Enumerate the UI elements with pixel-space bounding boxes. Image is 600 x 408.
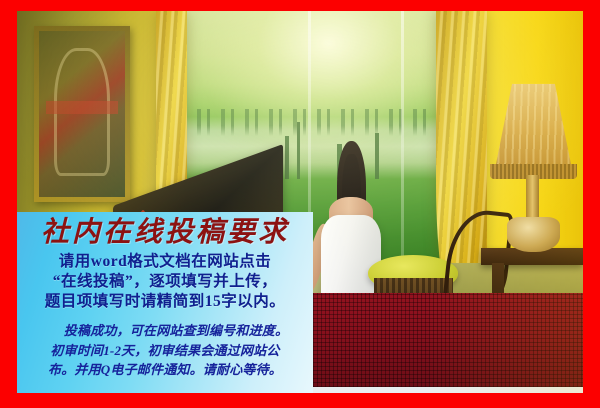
city-skyline xyxy=(170,109,459,136)
notice-body: 请用word格式文档在网站点击 “在线投稿”，逐项填写并上传， 题目项填写时请精… xyxy=(25,252,305,312)
lamp-base xyxy=(507,217,561,251)
window-mullion xyxy=(401,11,404,282)
notice-title: 社内在线投稿要求 xyxy=(25,216,305,250)
notice-sub-line: 布。并用Q电子邮件通知。请耐心等待。 xyxy=(25,360,305,380)
notice-body-line: 请用word格式文档在网站点击 xyxy=(25,252,305,272)
notice-body-line: 题目项填写时请精简到15字以内。 xyxy=(25,292,305,312)
notice-sub-line: 投稿成功，可在网站查到编号和进度。 xyxy=(25,321,305,341)
notice-panel: 社内在线投稿要求 请用word格式文档在网站点击 “在线投稿”，逐项填写并上传，… xyxy=(17,212,313,393)
poster-frame: 社内在线投稿要求 请用word格式文档在网站点击 “在线投稿”，逐项填写并上传，… xyxy=(0,0,600,408)
skyline-tower xyxy=(285,136,289,179)
notice-body-line: “在线投稿”，逐项填写并上传， xyxy=(25,272,305,292)
skyline-tower xyxy=(297,122,300,179)
artwork-canvas xyxy=(39,31,125,197)
notice-sub-line: 初审时间1-2天，初审结果会通过网站公 xyxy=(25,341,305,361)
notice-sub: 投稿成功，可在网站查到编号和进度。 初审时间1-2天，初审结果会通过网站公 布。… xyxy=(25,321,305,380)
framed-artwork xyxy=(34,26,130,202)
